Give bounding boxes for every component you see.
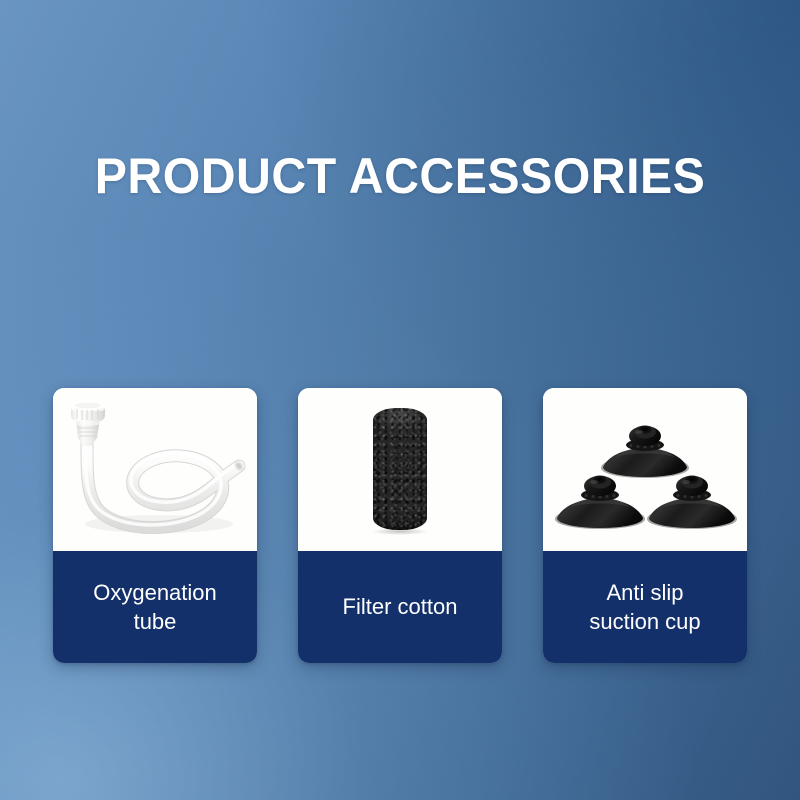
- accessory-card-row: Oxygenation tube Filter cotton: [53, 388, 747, 663]
- oxygenation-tube-icon: [53, 388, 257, 551]
- accessory-card-anti-slip-suction-cup[interactable]: Anti slip suction cup: [543, 388, 747, 663]
- accessory-card-filter-cotton[interactable]: Filter cotton: [298, 388, 502, 663]
- product-photo-anti-slip-suction-cup: [543, 388, 747, 551]
- accessory-label-oxygenation-tube: Oxygenation tube: [53, 551, 257, 663]
- suction-cup-right: [647, 476, 737, 530]
- product-photo-oxygenation-tube: [53, 388, 257, 551]
- accessory-label-anti-slip-suction-cup: Anti slip suction cup: [543, 551, 747, 663]
- page-title: PRODUCT ACCESSORIES: [14, 150, 786, 203]
- accessory-label-filter-cotton: Filter cotton: [298, 551, 502, 663]
- accessory-card-oxygenation-tube[interactable]: Oxygenation tube: [53, 388, 257, 663]
- suction-cup-top: [601, 426, 689, 479]
- anti-slip-suction-cup-icon: [543, 388, 747, 551]
- product-accessories-banner: PRODUCT ACCESSORIES: [0, 0, 800, 800]
- product-photo-filter-cotton: [298, 388, 502, 551]
- filter-cotton-texture: [373, 408, 427, 530]
- filter-cotton-icon: [373, 408, 427, 530]
- suction-cup-left: [555, 476, 645, 530]
